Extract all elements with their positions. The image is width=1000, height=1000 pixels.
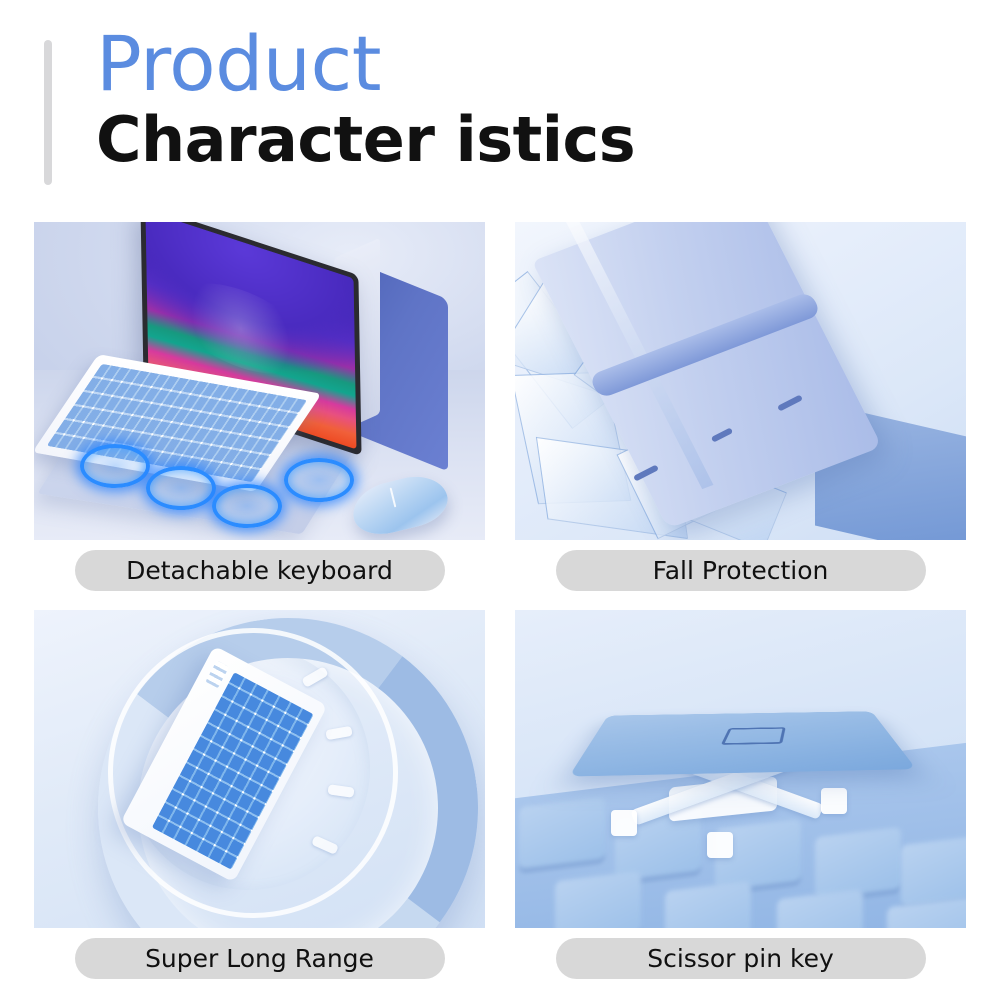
- feature-card-fall-protection[interactable]: Fall Protection: [515, 222, 966, 591]
- page-header: Product Character istics: [0, 0, 1000, 210]
- feature-image-fall-protection: [515, 222, 966, 540]
- feature-card-scissor-pin-key[interactable]: Scissor pin key: [515, 610, 966, 979]
- feature-caption-label: Scissor pin key: [647, 944, 834, 973]
- magnet-glow-icon: [212, 484, 282, 528]
- lifted-keycap: [569, 711, 916, 776]
- feature-image-scissor-pin-key: [515, 610, 966, 928]
- magnet-glow-icon: [146, 466, 216, 510]
- scissor-clip-foot: [611, 810, 637, 836]
- feature-image-detachable-keyboard: [34, 222, 485, 540]
- feature-card-detachable-keyboard[interactable]: Detachable keyboard: [34, 222, 485, 591]
- feature-card-super-long-range[interactable]: Super Long Range: [34, 610, 485, 979]
- background-keycap: [901, 835, 966, 908]
- page-title: Product Character istics: [96, 20, 635, 172]
- magnet-glow-icon: [284, 458, 354, 502]
- title-accent-bar: [44, 40, 52, 185]
- background-keycap: [555, 871, 641, 928]
- keyboard-indicator-leds: [205, 660, 229, 688]
- background-keycap: [815, 827, 901, 900]
- scissor-clip-foot: [707, 832, 733, 858]
- feature-caption-pill: Fall Protection: [556, 550, 926, 591]
- feature-caption-pill: Scissor pin key: [556, 938, 926, 979]
- scissor-clip-foot: [821, 788, 847, 814]
- feature-caption-pill: Super Long Range: [75, 938, 445, 979]
- keycap-legend: [721, 727, 786, 745]
- background-keycap: [519, 797, 605, 870]
- page-title-sub: Character istics: [96, 108, 635, 172]
- feature-caption-label: Super Long Range: [145, 944, 374, 973]
- feature-caption-label: Detachable keyboard: [126, 556, 393, 585]
- feature-grid: Detachable keyboard Fall Protection: [34, 222, 966, 977]
- feature-image-super-long-range: [34, 610, 485, 928]
- feature-caption-label: Fall Protection: [653, 556, 829, 585]
- magnet-glow-icon: [80, 444, 150, 488]
- page-title-main: Product: [96, 20, 635, 108]
- feature-caption-pill: Detachable keyboard: [75, 550, 445, 591]
